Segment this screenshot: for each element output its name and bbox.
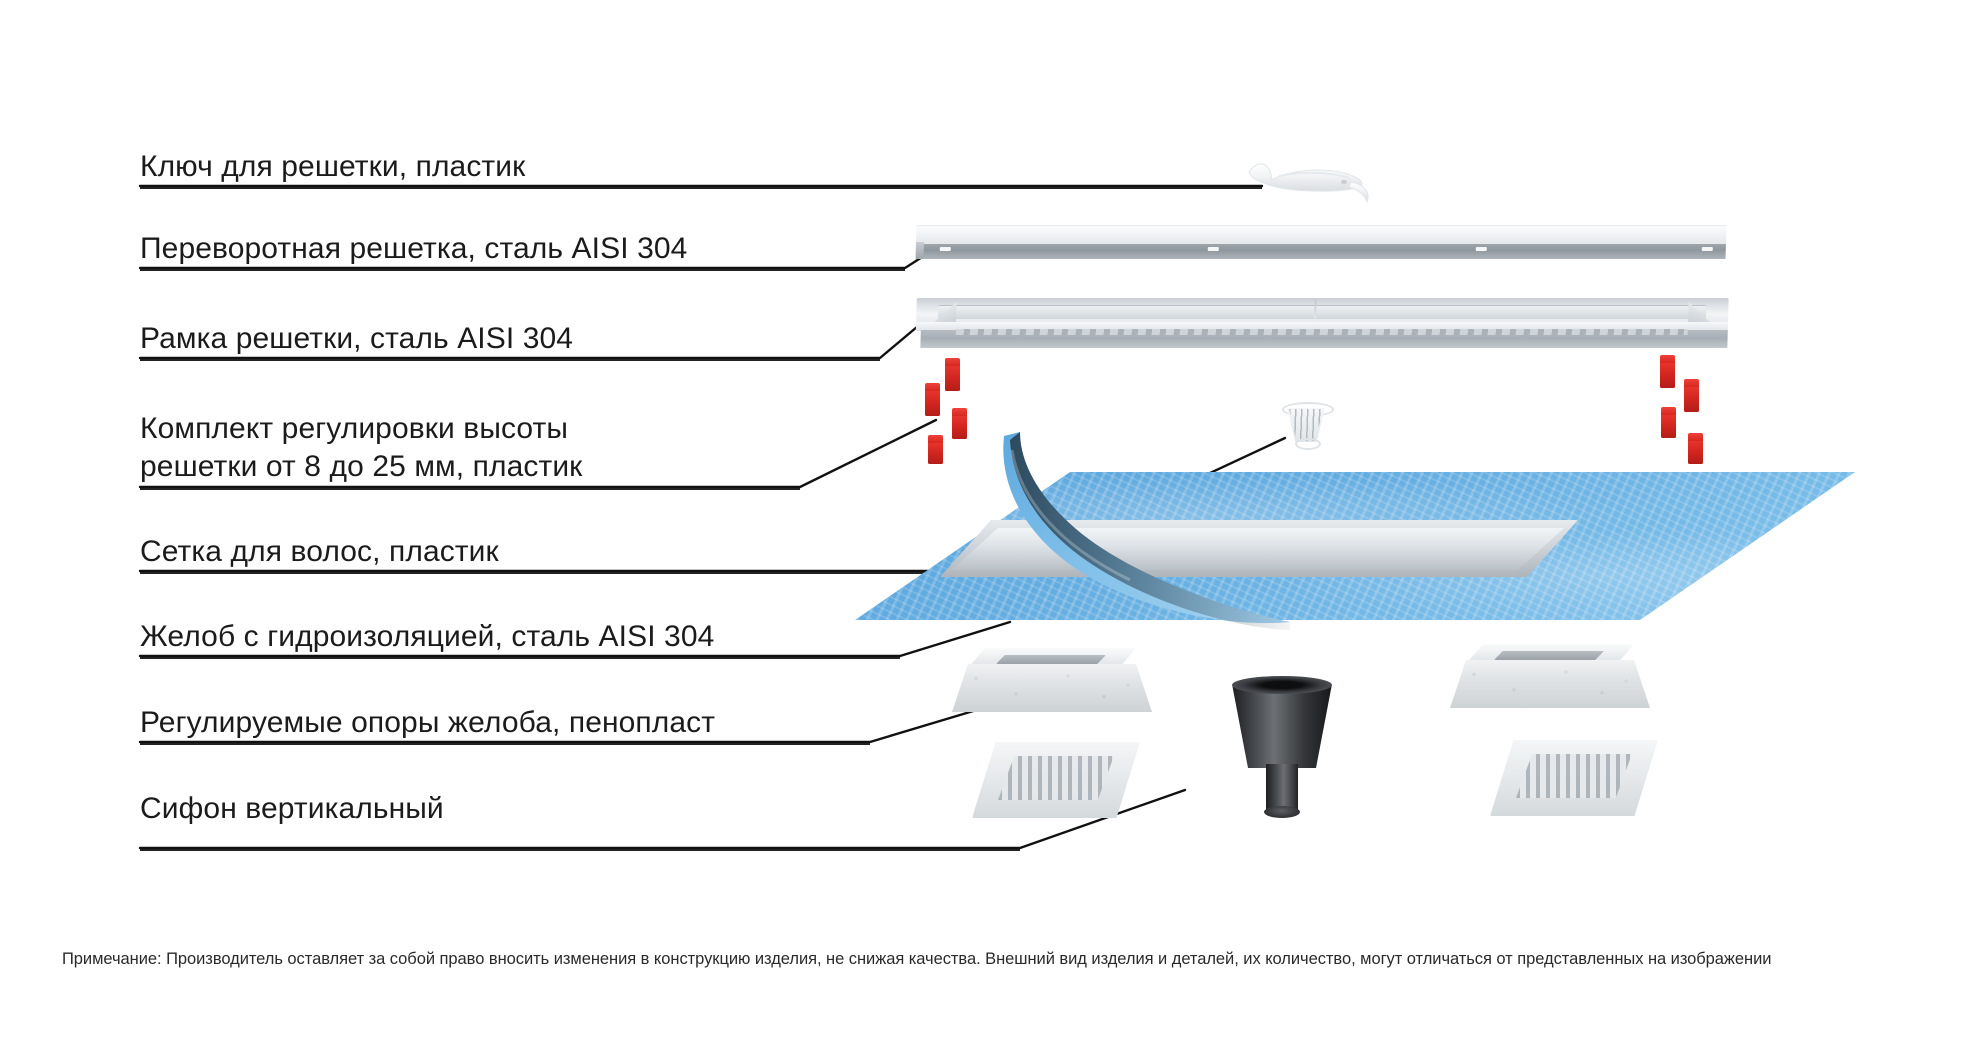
rule-reversible-grate xyxy=(140,269,905,271)
height-clip xyxy=(1661,414,1676,438)
label-vertical-siphon: Сифон вертикальный xyxy=(140,790,444,828)
height-clip xyxy=(952,415,967,439)
rule-grate-frame xyxy=(140,359,880,361)
reversible-grate-part xyxy=(916,225,1727,259)
siphon-rim xyxy=(1232,676,1332,694)
support-foam-grain xyxy=(1450,660,1650,708)
height-clip xyxy=(925,390,940,416)
label-grate-key: Ключ для решетки, пластик xyxy=(140,148,525,186)
membrane-peel-flap xyxy=(990,430,1320,630)
rule-grate-key xyxy=(140,187,1262,189)
foam-pad-right xyxy=(1490,740,1658,816)
label-grate-frame: Рамка решетки, сталь AISI 304 xyxy=(140,320,573,358)
pad-ribs xyxy=(1516,754,1632,798)
grate-key-icon xyxy=(1245,152,1375,204)
rule-channel-body xyxy=(140,657,900,659)
label-foam-supports: Регулируемые опоры желоба, пенопласт xyxy=(140,704,715,742)
label-height-kit: Комплект регулировки высоты решетки от 8… xyxy=(140,410,582,487)
grate-notch xyxy=(1702,247,1713,251)
foam-support-right xyxy=(1450,644,1650,708)
rule-vertical-siphon xyxy=(140,849,1020,851)
vertical-siphon-part xyxy=(1232,676,1332,824)
height-clip xyxy=(928,442,943,464)
support-foam-grain xyxy=(952,664,1152,712)
height-clip xyxy=(945,365,960,391)
siphon-outlet-end xyxy=(1264,806,1300,818)
height-clip xyxy=(1660,362,1675,388)
membrane-flap-icon xyxy=(990,430,1320,630)
label-reversible-grate: Переворотная решетка, сталь AISI 304 xyxy=(140,230,687,268)
height-clip xyxy=(1688,440,1703,464)
grate-top-surface xyxy=(916,225,1727,245)
frame-trough xyxy=(938,305,1706,319)
grate-frame-part xyxy=(915,298,1728,350)
grate-key-part xyxy=(1245,152,1375,204)
rule-foam-supports xyxy=(140,743,870,745)
grate-front-face xyxy=(922,244,1726,259)
label-channel-body: Желоб с гидроизоляцией, сталь AISI 304 xyxy=(140,618,714,656)
foam-support-left xyxy=(952,648,1152,712)
footnote-disclaimer: Примечание: Производитель оставляет за с… xyxy=(62,948,1922,970)
grate-end-cap xyxy=(916,242,924,259)
siphon-outlet-neck xyxy=(1266,764,1298,810)
height-clip xyxy=(1684,386,1699,412)
grate-notch xyxy=(940,247,951,251)
support-pocket xyxy=(996,655,1106,664)
grate-notch xyxy=(1208,247,1219,251)
support-pocket xyxy=(1494,651,1604,660)
rule-height-kit xyxy=(140,488,800,490)
grate-notch xyxy=(1476,247,1487,251)
diagram-canvas: Ключ для решетки, пластик Переворотная р… xyxy=(0,0,1969,1063)
foam-pad-left xyxy=(972,742,1140,818)
siphon-bowl xyxy=(1232,684,1332,768)
frame-toothed-edge xyxy=(956,329,1688,335)
label-hair-strainer: Сетка для волос, пластик xyxy=(140,533,499,571)
pad-ribs xyxy=(998,756,1114,800)
